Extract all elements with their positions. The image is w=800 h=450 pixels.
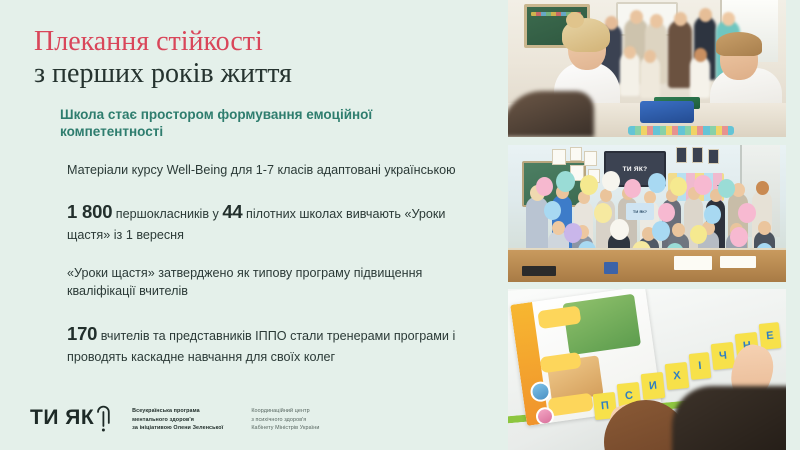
- list-item: 1 800 першокласників у 44 пілотних школа…: [67, 199, 479, 244]
- list-item: «Уроки щастя» затверджено як типову прог…: [67, 264, 479, 301]
- list-item: 170 вчителів та представників ІППО стали…: [67, 321, 479, 366]
- letter-card: Х: [665, 362, 690, 390]
- bullet-text: Матеріали курсу Well-Being для 1-7 класі…: [67, 163, 456, 177]
- bullet-list: Матеріали курсу Well-Being для 1-7 класі…: [67, 161, 487, 366]
- slide-root: Плекання стійкості з перших років життя …: [0, 0, 800, 450]
- content-column: Плекання стійкості з перших років життя …: [0, 0, 500, 450]
- footer-primary-description: Всеукраїнська програма ментального здоро…: [132, 407, 223, 434]
- stat-number: 170: [67, 323, 97, 344]
- subtitle: Школа стає простором формування емоційно…: [60, 106, 390, 141]
- bullet-text: першокласників у: [112, 207, 222, 221]
- footer-divider: [121, 406, 122, 434]
- bullet-text: «Уроки щастя» затверджено як типову прог…: [67, 266, 422, 298]
- letter-card: Ч: [711, 342, 736, 370]
- footer-logo-bar: ТИ ЯК Всеукраїнська програма ментального…: [30, 406, 319, 434]
- photo-class-group-balloons: ТИ ЯК? ТИ ЯК?: [508, 145, 786, 282]
- photo-column: ТИ ЯК? ТИ ЯК?: [508, 0, 786, 450]
- photo-letter-cards: П С И Х І Ч Н Е: [508, 289, 786, 450]
- list-item: Матеріали курсу Well-Being для 1-7 класі…: [67, 161, 479, 179]
- question-mark-umbrella-icon: [96, 403, 111, 433]
- footer-secondary-description: Координаційний центр з психічного здоров…: [251, 407, 319, 434]
- held-sign: ТИ ЯК?: [626, 203, 654, 220]
- brand-logo-text: ТИ ЯК: [30, 407, 94, 428]
- stat-number: 44: [222, 201, 242, 222]
- stat-number: 1 800: [67, 201, 112, 222]
- letter-card: И: [641, 372, 666, 400]
- brand-logo: ТИ ЯК: [30, 407, 111, 433]
- title-line-accent: Плекання стійкості: [34, 26, 486, 58]
- photo-classroom-desks: [508, 0, 786, 137]
- page-title: Плекання стійкості з перших років життя: [34, 26, 486, 90]
- letter-card: І: [689, 352, 712, 380]
- title-line-dark: з перших років життя: [34, 58, 486, 90]
- bullet-text: вчителів та представників ІППО стали тре…: [67, 329, 455, 364]
